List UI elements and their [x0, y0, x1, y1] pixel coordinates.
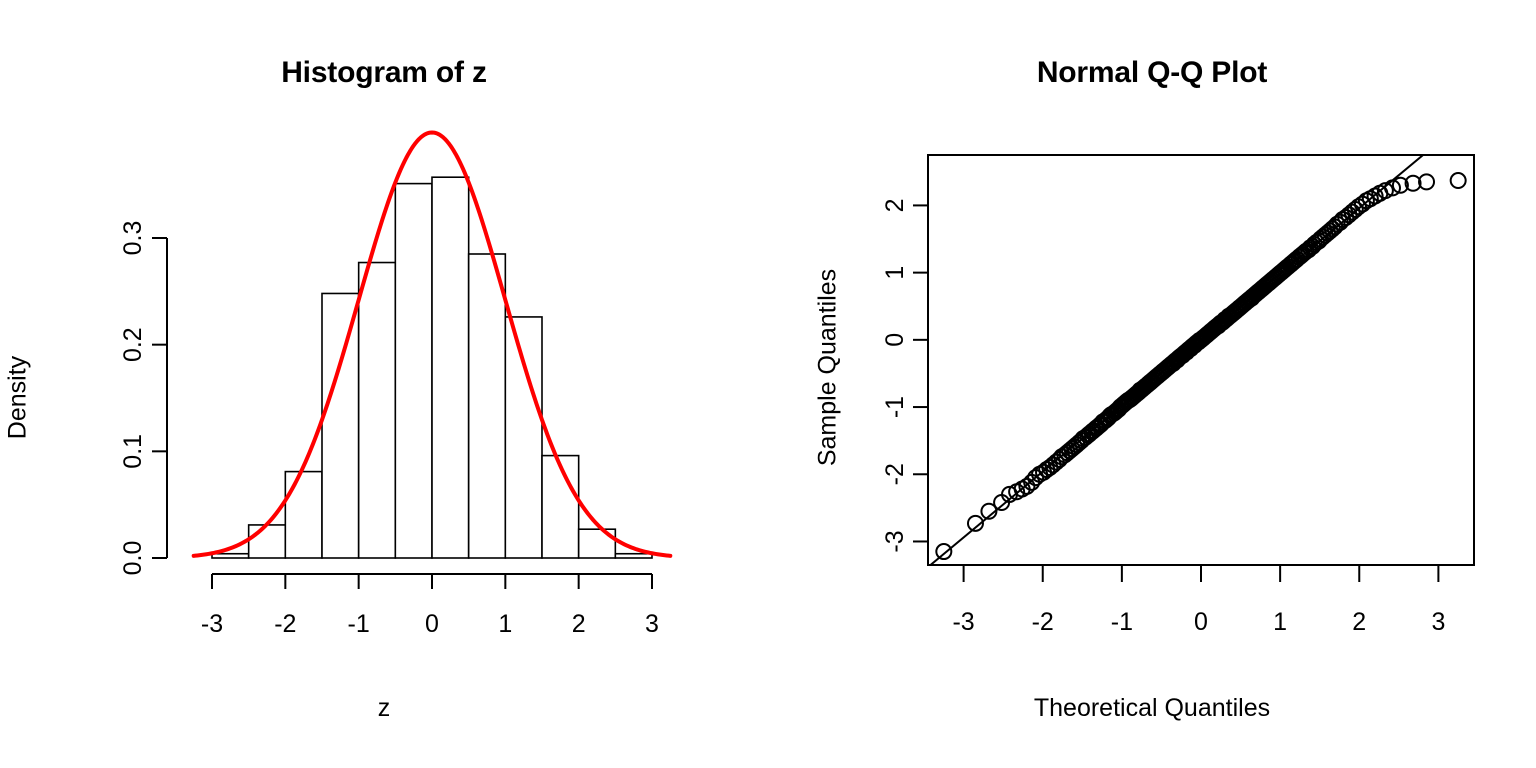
y-axis-tick-label: 0.3 [119, 221, 147, 256]
histogram-x-axis: -3-2-10123 [201, 574, 659, 638]
histogram-bar [469, 254, 506, 558]
histogram-plot-area: 0.00.10.20.3-3-2-10123 [119, 132, 670, 638]
y-axis-tick-label: -2 [881, 463, 909, 485]
qqplot-point [936, 544, 951, 559]
x-axis-tick-label: 3 [645, 610, 659, 638]
y-axis-tick-label: 0 [881, 333, 909, 347]
x-axis-tick-label: -1 [348, 610, 370, 638]
histogram-bar [285, 472, 322, 558]
histogram-bar [359, 263, 396, 558]
x-axis-tick-label: 3 [1431, 608, 1445, 636]
histogram-bar [395, 184, 432, 558]
y-axis-tick-label: 2 [881, 198, 909, 212]
y-axis-tick-label: 0.1 [119, 434, 147, 469]
qqplot-panel: Normal Q-Q Plot Theoretical Quantiles Sa… [768, 0, 1536, 768]
x-axis-tick-label: 1 [1273, 608, 1287, 636]
histogram-bar [432, 177, 469, 558]
qqplot-points [936, 173, 1465, 559]
histogram-y-axis: 0.00.10.20.3 [119, 221, 167, 576]
x-axis-tick-label: 1 [498, 610, 512, 638]
histogram-canvas: 0.00.10.20.3-3-2-10123 [0, 0, 768, 768]
qqplot-plot-area: -3-2-1012-3-2-10123 [881, 113, 1474, 636]
histogram-bar [212, 554, 249, 558]
y-axis-tick-label: 0.0 [119, 541, 147, 576]
y-axis-tick-label: 1 [881, 266, 909, 280]
x-axis-tick-label: 2 [572, 610, 586, 638]
y-axis-tick-label: -1 [881, 396, 909, 418]
plot-page: Histogram of z z Density 0.00.10.20.3-3-… [0, 0, 1536, 768]
x-axis-tick-label: 0 [425, 610, 439, 638]
histogram-bar [249, 525, 286, 558]
qqplot-y-axis: -3-2-1012 [881, 198, 928, 552]
x-axis-tick-label: -3 [952, 608, 974, 636]
histogram-bar [542, 456, 579, 558]
x-axis-tick-label: -3 [201, 610, 223, 638]
x-axis-tick-label: 2 [1352, 608, 1366, 636]
qqplot-point [1451, 173, 1466, 188]
histogram-bar [322, 293, 359, 558]
y-axis-tick-label: -3 [881, 530, 909, 552]
x-axis-tick-label: 0 [1194, 608, 1208, 636]
x-axis-tick-label: -2 [274, 610, 296, 638]
qqplot-x-axis: -3-2-10123 [952, 565, 1445, 636]
histogram-panel: Histogram of z z Density 0.00.10.20.3-3-… [0, 0, 768, 768]
x-axis-tick-label: -2 [1032, 608, 1054, 636]
y-axis-tick-label: 0.2 [119, 327, 147, 362]
qqplot-canvas: -3-2-1012-3-2-10123 [768, 0, 1536, 768]
x-axis-tick-label: -1 [1111, 608, 1133, 636]
histogram-bar [505, 317, 542, 558]
histogram-bars [212, 177, 652, 558]
histogram-bar [615, 554, 652, 558]
